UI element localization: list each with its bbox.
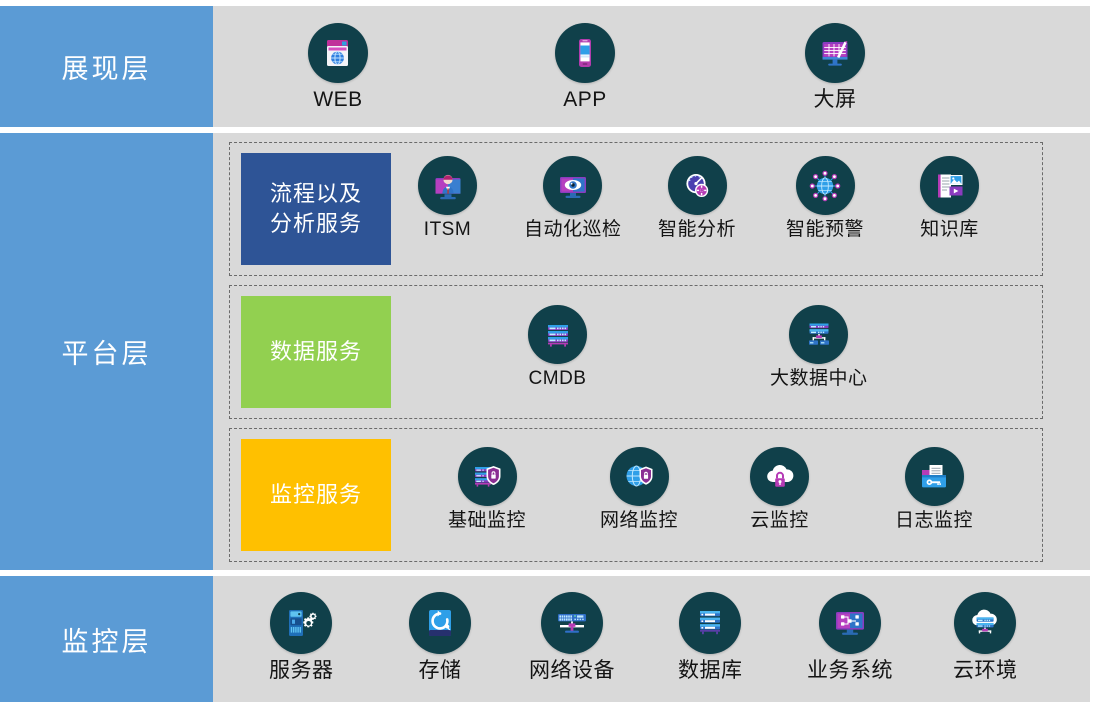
browser-globe-icon	[308, 23, 368, 83]
tile-cloud-env-label: 云环境	[953, 659, 1018, 682]
layer-row-platform: 平台层 流程以及 分析服务	[0, 133, 1090, 570]
service-group-process-analysis: 流程以及 分析服务	[229, 142, 1043, 276]
tile-server[interactable]: 服务器	[269, 592, 334, 682]
mobile-phone-icon	[555, 23, 615, 83]
knowledge-document-icon	[920, 156, 979, 215]
tile-basic-monitoring-label: 基础监控	[448, 511, 526, 532]
tile-itsm-label: ITSM	[424, 220, 471, 241]
network-alert-globe-icon	[796, 156, 855, 215]
tile-log-monitoring[interactable]: 日志监控	[895, 447, 973, 532]
network-switch-icon	[541, 592, 603, 654]
cloud-lock-icon	[750, 447, 809, 506]
tile-database-label: 数据库	[678, 659, 743, 682]
group-tag-process-line2: 分析服务	[270, 209, 362, 239]
tile-business-system[interactable]: 业务系统	[807, 592, 893, 682]
group-tag-monitoring-text: 监控服务	[270, 480, 362, 510]
tile-itsm[interactable]: ITSM	[418, 156, 477, 241]
cloud-server-icon	[954, 592, 1016, 654]
group-tag-process-line1: 流程以及	[270, 179, 362, 209]
architecture-diagram: 展现层 WEB	[0, 0, 1100, 708]
eye-monitor-icon	[543, 156, 602, 215]
tile-bigscreen-label: 大屏	[814, 88, 857, 111]
tile-cloud-env[interactable]: 云环境	[953, 592, 1018, 682]
layer-label-platform-text: 平台层	[62, 332, 152, 371]
tile-business-system-label: 业务系统	[807, 659, 893, 682]
tile-knowledge-base[interactable]: 知识库	[920, 156, 979, 241]
tile-network-monitoring-label: 网络监控	[600, 511, 678, 532]
layer-label-presentation-text: 展现层	[62, 47, 152, 86]
tile-database[interactable]: 数据库	[678, 592, 743, 682]
group-tag-process-analysis: 流程以及 分析服务	[241, 153, 391, 265]
layer-body-presentation: WEB APP	[213, 6, 1090, 127]
tile-web-label: WEB	[313, 88, 362, 111]
tile-cloud-monitoring-label: 云监控	[750, 511, 809, 532]
business-system-monitor-icon	[819, 592, 881, 654]
tile-bigscreen[interactable]: 大屏	[805, 23, 865, 111]
layer-body-platform: 流程以及 分析服务	[213, 133, 1090, 570]
layer-row-monitor: 监控层	[0, 576, 1090, 702]
tile-app[interactable]: APP	[555, 23, 615, 111]
tile-big-data-center-label: 大数据中心	[770, 369, 868, 390]
gauge-analytics-icon	[668, 156, 727, 215]
tile-big-data-center[interactable]: 大数据中心	[770, 305, 868, 390]
tile-cmdb[interactable]: CMDB	[528, 305, 587, 390]
tile-auto-inspection[interactable]: 自动化巡检	[524, 156, 622, 241]
globe-shield-icon	[610, 447, 669, 506]
tile-web[interactable]: WEB	[308, 23, 368, 111]
server-gear-icon	[270, 592, 332, 654]
layer-label-platform: 平台层	[0, 133, 213, 570]
tile-auto-inspection-label: 自动化巡检	[524, 220, 622, 241]
tile-network-device[interactable]: 网络设备	[529, 592, 615, 682]
layer-label-monitor: 监控层	[0, 576, 213, 702]
log-key-icon	[905, 447, 964, 506]
service-group-data: 数据服务	[229, 285, 1043, 419]
big-data-center-icon	[789, 305, 848, 364]
tile-smart-alert-label: 智能预警	[786, 220, 864, 241]
layer-label-presentation: 展现层	[0, 6, 213, 127]
support-agent-monitor-icon	[418, 156, 477, 215]
tile-storage-label: 存储	[419, 659, 462, 682]
service-group-monitoring: 监控服务	[229, 428, 1043, 562]
tile-basic-monitoring[interactable]: 基础监控	[448, 447, 526, 532]
group-tag-data-text: 数据服务	[270, 337, 362, 367]
storage-disk-icon	[409, 592, 471, 654]
layer-label-monitor-text: 监控层	[62, 620, 152, 659]
tile-smart-analysis[interactable]: 智能分析	[658, 156, 736, 241]
layer-row-presentation: 展现层 WEB	[0, 6, 1090, 127]
tile-log-monitoring-label: 日志监控	[895, 511, 973, 532]
tile-network-device-label: 网络设备	[529, 659, 615, 682]
tile-server-label: 服务器	[269, 659, 334, 682]
group-tag-data: 数据服务	[241, 296, 391, 408]
layer-body-monitor: 服务器 存储	[213, 576, 1090, 702]
dashboard-screen-icon	[805, 23, 865, 83]
group-tag-monitoring: 监控服务	[241, 439, 391, 551]
tile-network-monitoring[interactable]: 网络监控	[600, 447, 678, 532]
tile-cloud-monitoring[interactable]: 云监控	[750, 447, 809, 532]
server-rack-icon	[528, 305, 587, 364]
tile-knowledge-base-label: 知识库	[920, 220, 979, 241]
server-shield-icon	[458, 447, 517, 506]
tile-smart-alert[interactable]: 智能预警	[786, 156, 864, 241]
tile-storage[interactable]: 存储	[409, 592, 471, 682]
database-rack-icon	[679, 592, 741, 654]
tile-app-label: APP	[563, 88, 607, 111]
tile-cmdb-label: CMDB	[529, 369, 587, 390]
tile-smart-analysis-label: 智能分析	[658, 220, 736, 241]
